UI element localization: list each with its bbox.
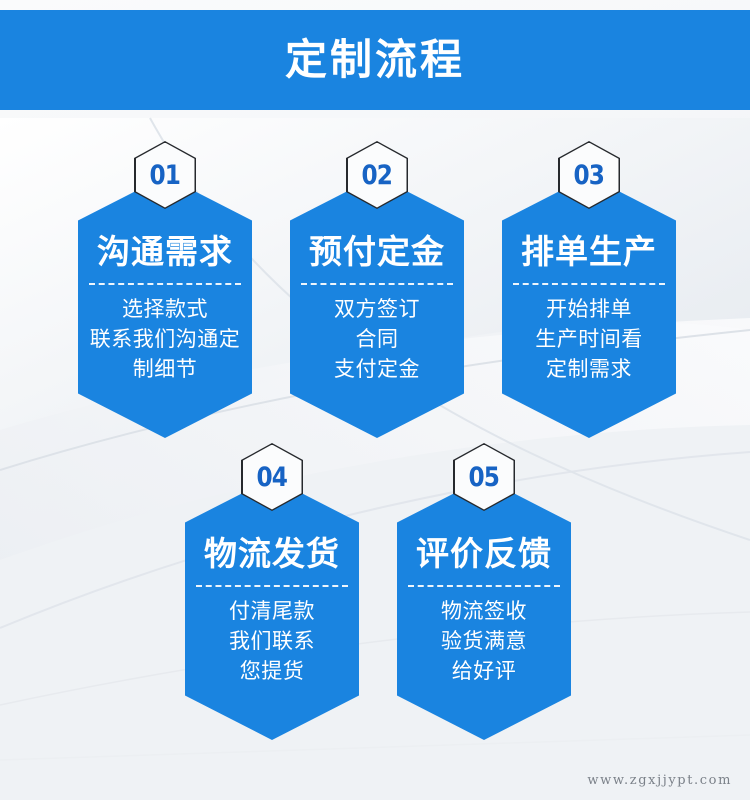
step-card-content-04: 物流发货 付清尾款 我们联系 您提货 [185,478,359,740]
step-body-line: 联系我们沟通定 [90,325,241,355]
step-divider-01 [89,283,241,285]
step-body-line: 我们联系 [229,627,315,657]
step-body-line: 制细节 [90,355,241,385]
step-body-04: 付清尾款 我们联系 您提货 [229,597,315,686]
step-title-03: 排单生产 [521,234,657,270]
step-body-05: 物流签收 验货满意 给好评 [441,597,527,686]
step-card-content-02: 预付定金 双方签订 合同 支付定金 [290,176,464,438]
infographic-page: 定制流程 沟通需求 选择款式 联系我们沟通定 制细节 01 [0,0,750,800]
step-card-content-01: 沟通需求 选择款式 联系我们沟通定 制细节 [78,176,252,438]
step-number-05: 05 [469,462,500,493]
step-body-02: 双方签订 合同 支付定金 [334,295,420,384]
step-number-04: 04 [257,462,288,493]
step-divider-04 [196,585,348,587]
step-divider-02 [301,283,453,285]
step-title-04: 物流发货 [204,536,340,572]
steps-container: 沟通需求 选择款式 联系我们沟通定 制细节 01 预付定金 双方签订 [0,0,750,800]
step-divider-05 [408,585,560,587]
footer-watermark: www.zgxjjypt.com [587,773,732,788]
step-badge-01: 01 [134,141,196,209]
step-body-line: 支付定金 [334,355,420,385]
step-body-line: 定制需求 [535,355,643,385]
step-card-content-05: 评价反馈 物流签收 验货满意 给好评 [397,478,571,740]
step-body-line: 生产时间看 [535,325,643,355]
step-card-04[interactable]: 物流发货 付清尾款 我们联系 您提货 [185,478,359,740]
step-card-01[interactable]: 沟通需求 选择款式 联系我们沟通定 制细节 [78,176,252,438]
step-badge-04: 04 [241,443,303,511]
step-badge-02: 02 [346,141,408,209]
step-badge-03: 03 [558,141,620,209]
step-body-line: 选择款式 [90,295,241,325]
step-body-03: 开始排单 生产时间看 定制需求 [535,295,643,384]
step-card-05[interactable]: 评价反馈 物流签收 验货满意 给好评 [397,478,571,740]
step-body-line: 开始排单 [535,295,643,325]
step-body-line: 付清尾款 [229,597,315,627]
step-body-line: 您提货 [229,657,315,687]
step-body-line: 验货满意 [441,627,527,657]
step-number-02: 02 [362,160,393,191]
step-title-01: 沟通需求 [97,234,233,270]
step-card-03[interactable]: 排单生产 开始排单 生产时间看 定制需求 [502,176,676,438]
step-badge-05: 05 [453,443,515,511]
step-title-02: 预付定金 [309,234,445,270]
step-title-05: 评价反馈 [416,536,552,572]
step-body-line: 双方签订 [334,295,420,325]
step-body-line: 给好评 [441,657,527,687]
step-body-01: 选择款式 联系我们沟通定 制细节 [90,295,241,384]
step-card-content-03: 排单生产 开始排单 生产时间看 定制需求 [502,176,676,438]
step-number-01: 01 [150,160,181,191]
step-card-02[interactable]: 预付定金 双方签订 合同 支付定金 [290,176,464,438]
step-divider-03 [513,283,665,285]
step-body-line: 合同 [334,325,420,355]
step-body-line: 物流签收 [441,597,527,627]
step-number-03: 03 [574,160,605,191]
